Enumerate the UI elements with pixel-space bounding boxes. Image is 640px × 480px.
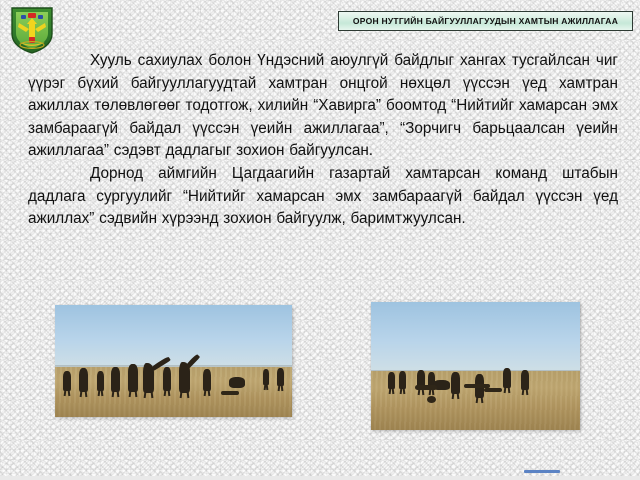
photo-left-figure <box>128 364 138 392</box>
paragraph-1: Хууль сахиулах болон Үндэсний аюулгүй ба… <box>28 50 618 163</box>
photo-right-sky <box>371 302 580 372</box>
photo-left-figure <box>163 367 171 391</box>
photo-left-figure <box>79 368 88 392</box>
photo-right-figure <box>451 372 460 394</box>
photo-left-figure <box>263 369 269 385</box>
photo-left-figure <box>203 369 211 391</box>
photo-right-prone-figure <box>484 388 502 392</box>
body-text-block: Хууль сахиулах болон Үндэсний аюулгүй ба… <box>28 50 618 231</box>
photo-right-figure <box>521 370 529 390</box>
photo-right-figure <box>388 372 395 389</box>
photo-left-figure <box>97 371 104 391</box>
photo-right-scene <box>371 302 580 430</box>
photo-training-drill-right <box>371 302 580 430</box>
photo-left-scene <box>55 305 292 417</box>
photo-left-figure <box>63 371 71 391</box>
photo-right-figure <box>503 368 511 388</box>
photo-left-figure <box>111 367 120 392</box>
organization-emblem <box>6 4 58 56</box>
photo-left-figure <box>277 368 284 386</box>
photo-left-prone-figure <box>221 391 239 395</box>
bottom-edge-strip <box>0 476 640 480</box>
photo-left-crouching-figure <box>229 377 245 388</box>
photo-training-drill-left <box>55 305 292 417</box>
header-banner: ОРОН НУТГИЙН БАЙГУУЛЛАГУУДЫН ХАМТЫН АЖИЛ… <box>338 11 633 31</box>
photo-right-figure <box>399 371 406 389</box>
photo-left-sky <box>55 305 292 368</box>
slide-canvas: ОРОН НУТГИЙН БАЙГУУЛЛАГУУДЫН ХАМТЫН АЖИЛ… <box>0 0 640 480</box>
photo-left-ground <box>55 367 292 417</box>
photo-right-equipment <box>427 396 436 403</box>
bottom-accent-bar <box>524 470 560 473</box>
header-banner-text: ОРОН НУТГИЙН БАЙГУУЛЛАГУУДЫН ХАМТЫН АЖИЛ… <box>353 16 618 26</box>
paragraph-2: Дорнод аймгийн Цагдаагийн газартай хамта… <box>28 163 618 231</box>
photo-right-prone-figure <box>415 385 437 390</box>
